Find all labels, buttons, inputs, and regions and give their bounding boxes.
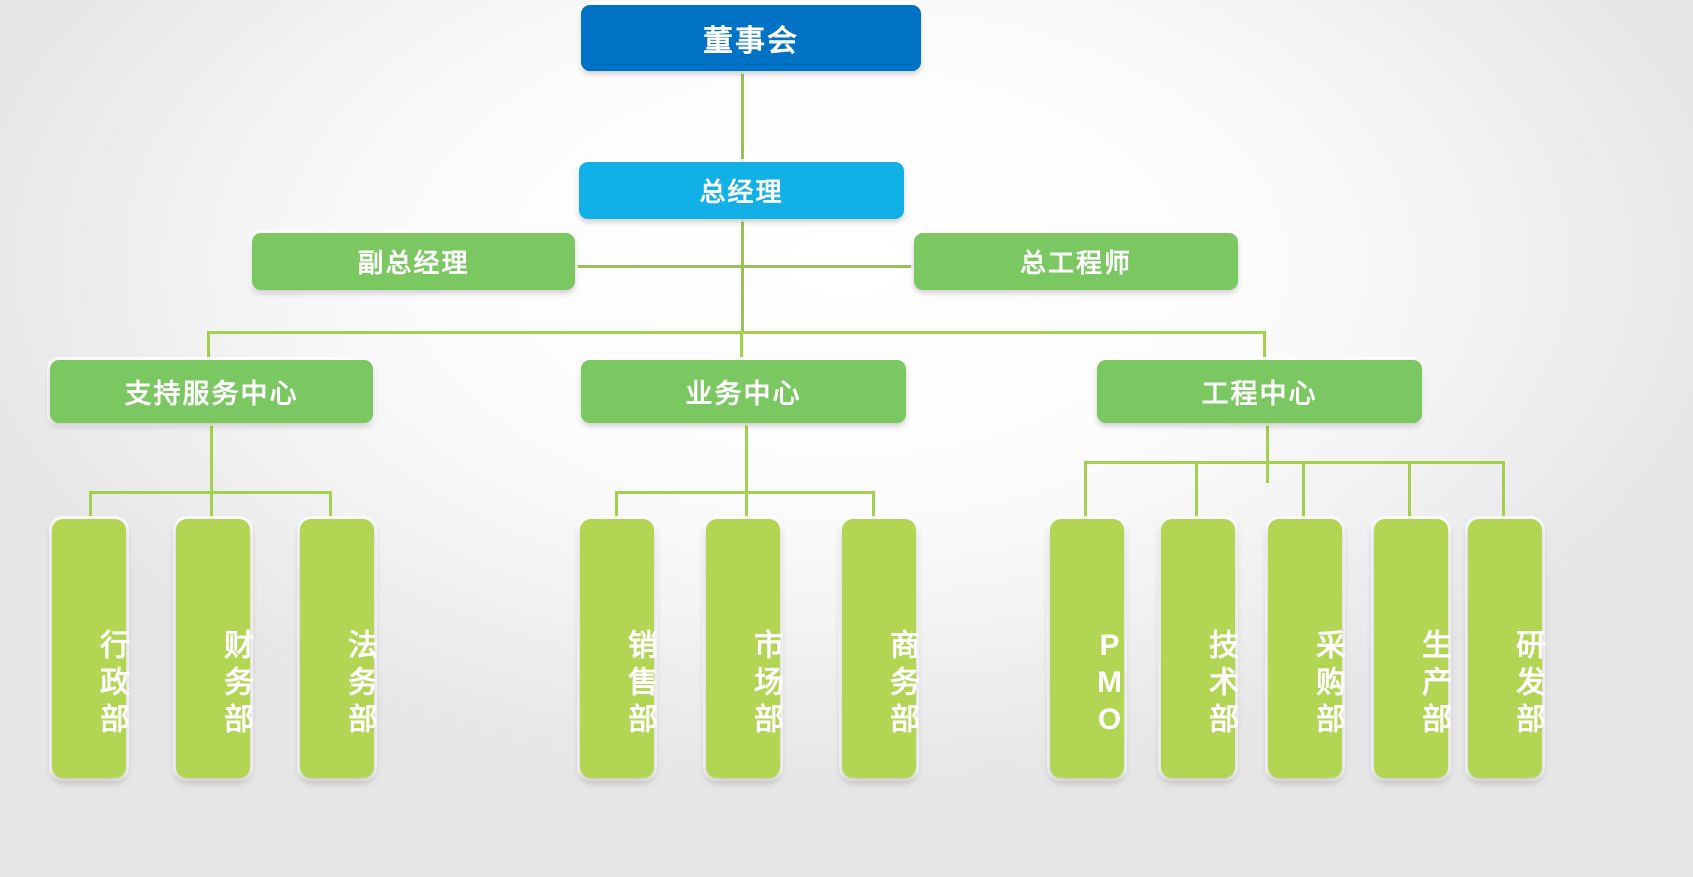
node-engineering-center[interactable]: 工程中心 [1097,360,1422,423]
node-dept-legal[interactable]: 法务部 [300,519,374,778]
connector-center-bus [207,331,1266,334]
node-business-center[interactable]: 业务中心 [581,360,906,423]
node-dept-administration[interactable]: 行政部 [52,519,126,778]
node-dept-technology[interactable]: 技术部 [1161,519,1235,778]
connector-engineering-to-purchasing [1302,461,1305,520]
connector-engineering-to-tech [1195,461,1198,520]
node-dept-production[interactable]: 生产部 [1374,519,1448,778]
connector-business-to-commerce [872,491,875,520]
node-dept-purchasing[interactable]: 采购部 [1268,519,1342,778]
connector-support-to-finance [210,491,213,520]
node-dept-sales[interactable]: 销售部 [580,519,654,778]
node-general-manager[interactable]: 总经理 [579,162,904,219]
org-chart-canvas: 董事会 总经理 副总经理 总工程师 支持服务中心 业务中心 工程中心 行政部 财… [0,0,1693,877]
connector-gm-trunk [741,219,744,334]
connector-business-to-sales [615,491,618,520]
node-support-service-center[interactable]: 支持服务中心 [50,360,373,423]
connector-engineering-stem [1266,423,1269,483]
connector-board-to-gm [741,72,744,162]
node-deputy-general-manager[interactable]: 副总经理 [252,233,575,290]
connector-support-to-legal [329,491,332,520]
node-dept-finance[interactable]: 财务部 [176,519,250,778]
connector-engineering-bus [1084,461,1505,464]
node-dept-pmo[interactable]: PMO [1050,519,1124,778]
connector-engineering-to-pmo [1084,461,1087,520]
connector-support-stem [210,423,213,493]
connector-chief-engineer-link [741,265,916,268]
connector-deputy-gm-link [575,265,743,268]
node-dept-marketing[interactable]: 市场部 [706,519,780,778]
node-board[interactable]: 董事会 [581,5,921,71]
connector-engineering-to-rd [1502,461,1505,520]
connector-support-to-admin [89,491,92,520]
connector-business-to-marketing [745,491,748,520]
node-chief-engineer[interactable]: 总工程师 [914,233,1238,290]
node-dept-commerce[interactable]: 商务部 [842,519,916,778]
connector-business-stem [745,423,748,493]
node-dept-research-development[interactable]: 研发部 [1468,519,1542,778]
connector-engineering-to-production [1408,461,1411,520]
